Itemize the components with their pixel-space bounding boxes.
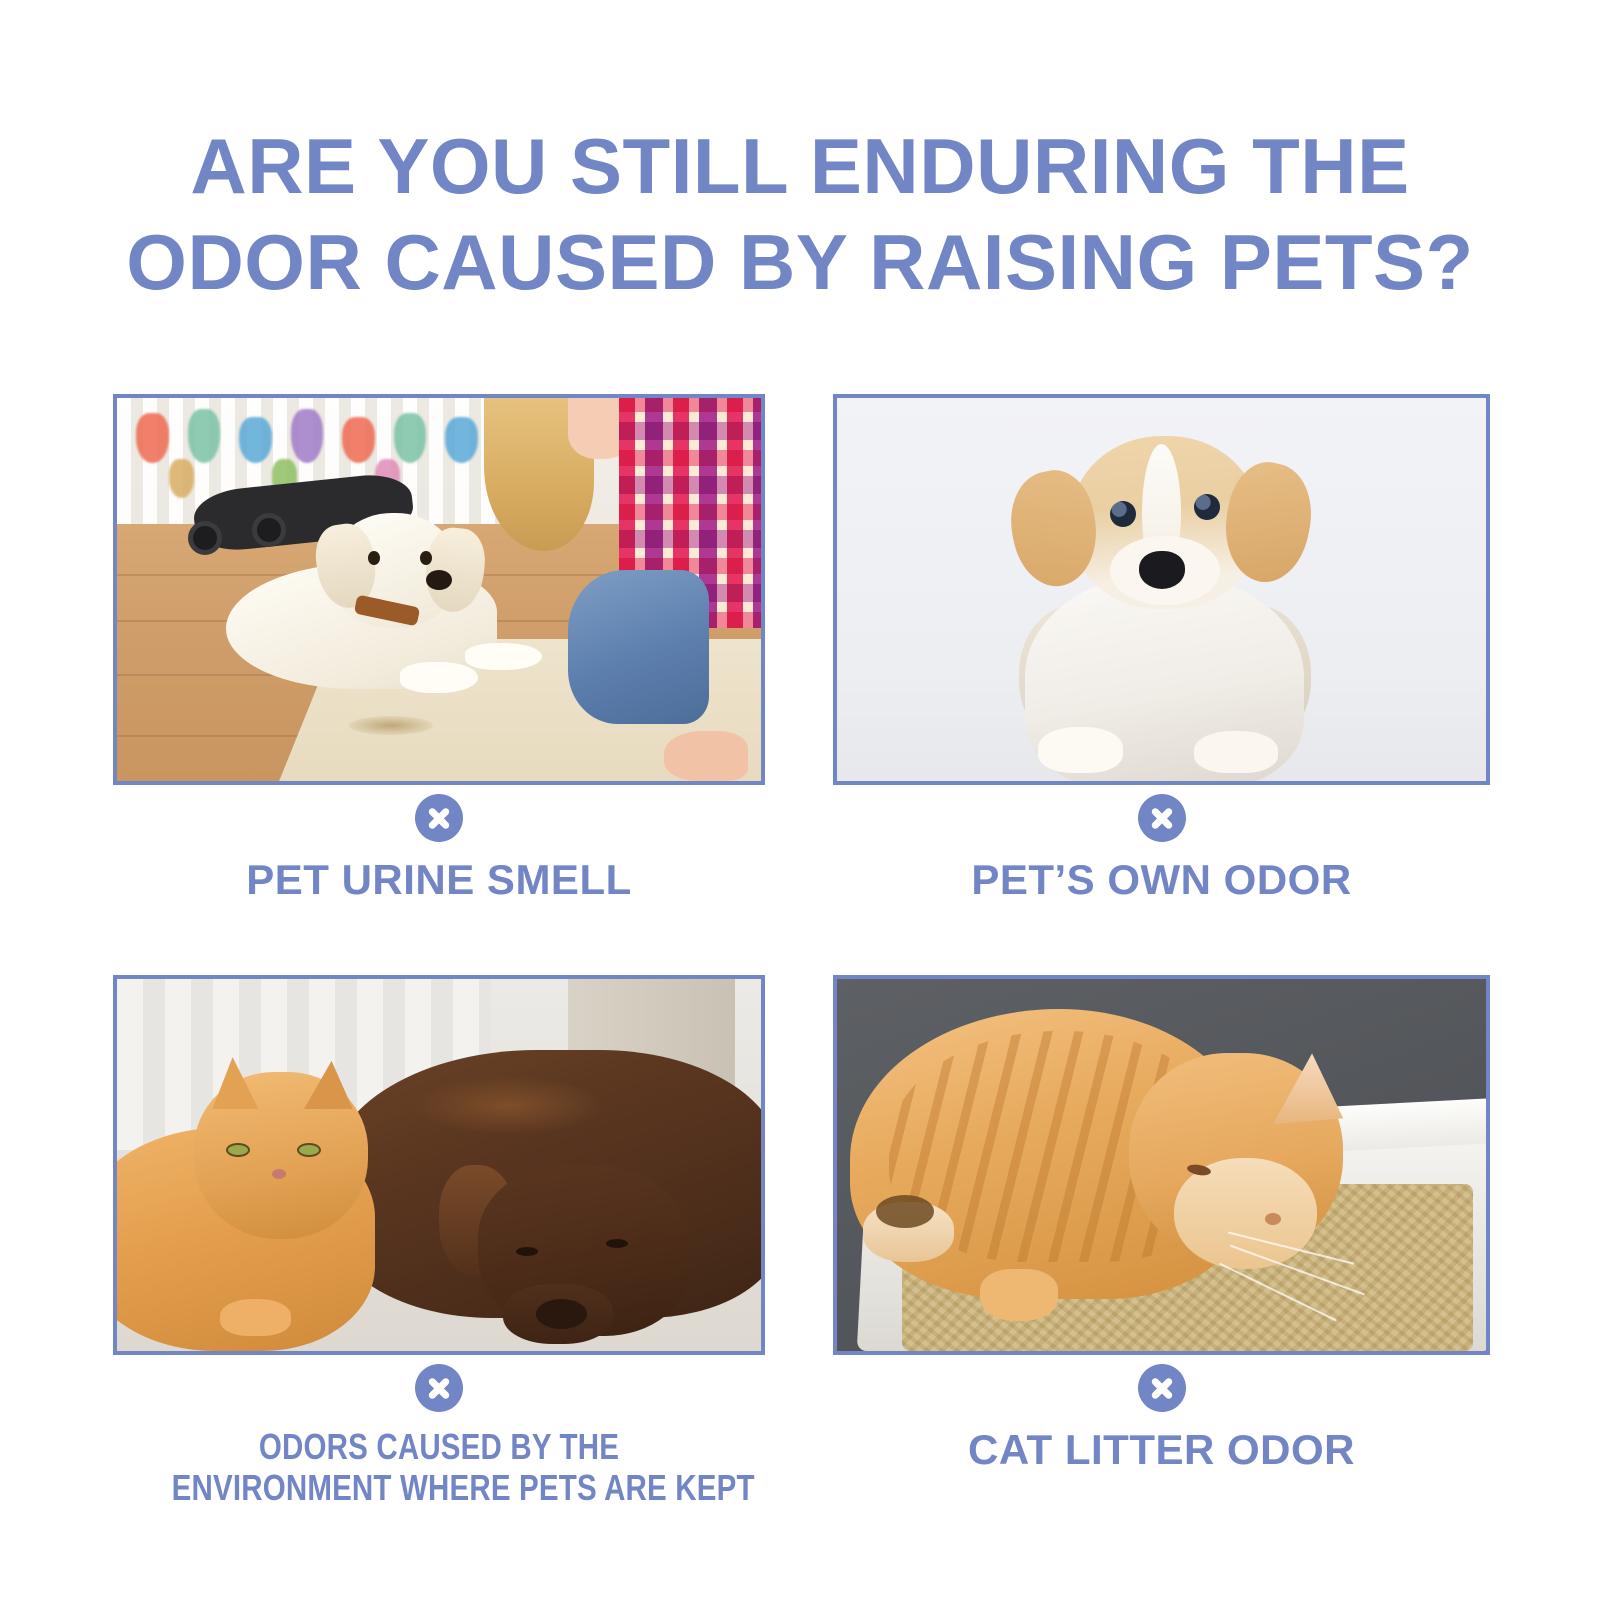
card-caption: PET URINE SMELL xyxy=(113,856,765,904)
card-pet-urine-smell: PET URINE SMELL xyxy=(113,394,765,904)
x-mark-icon xyxy=(415,1364,463,1412)
x-mark-icon xyxy=(415,794,463,842)
card-environment-odors: ODORS CAUSED BY THE ENVIRONMENT WHERE PE… xyxy=(113,975,765,1509)
image-frame xyxy=(833,975,1490,1355)
pet-odor-card-grid: PET URINE SMELL xyxy=(0,0,1600,1600)
poster-root: ARE YOU STILL ENDURING THE ODOR CAUSED B… xyxy=(0,0,1600,1600)
card-caption: PET’S OWN ODOR xyxy=(833,856,1490,904)
badge-row xyxy=(113,794,765,842)
x-mark-icon xyxy=(1138,1364,1186,1412)
badge-row xyxy=(113,1364,765,1412)
photo-cat-and-labrador xyxy=(117,979,761,1351)
image-frame xyxy=(833,394,1490,785)
photo-puppy-urine-rug xyxy=(117,398,761,781)
photo-tan-puppy xyxy=(837,398,1486,781)
card-caption: ODORS CAUSED BY THE ENVIRONMENT WHERE PE… xyxy=(172,1426,707,1509)
x-mark-icon xyxy=(1138,794,1186,842)
card-pets-own-odor: PET’S OWN ODOR xyxy=(833,394,1490,904)
image-frame xyxy=(113,975,765,1355)
badge-row xyxy=(833,794,1490,842)
photo-cat-in-litter-box xyxy=(837,979,1486,1351)
card-caption: CAT LITTER ODOR xyxy=(833,1426,1490,1474)
image-frame xyxy=(113,394,765,785)
caption-line-1: ODORS CAUSED BY THE xyxy=(172,1426,707,1467)
card-cat-litter-odor: CAT LITTER ODOR xyxy=(833,975,1490,1474)
badge-row xyxy=(833,1364,1490,1412)
caption-line-2: ENVIRONMENT WHERE PETS ARE KEPT xyxy=(172,1467,707,1508)
